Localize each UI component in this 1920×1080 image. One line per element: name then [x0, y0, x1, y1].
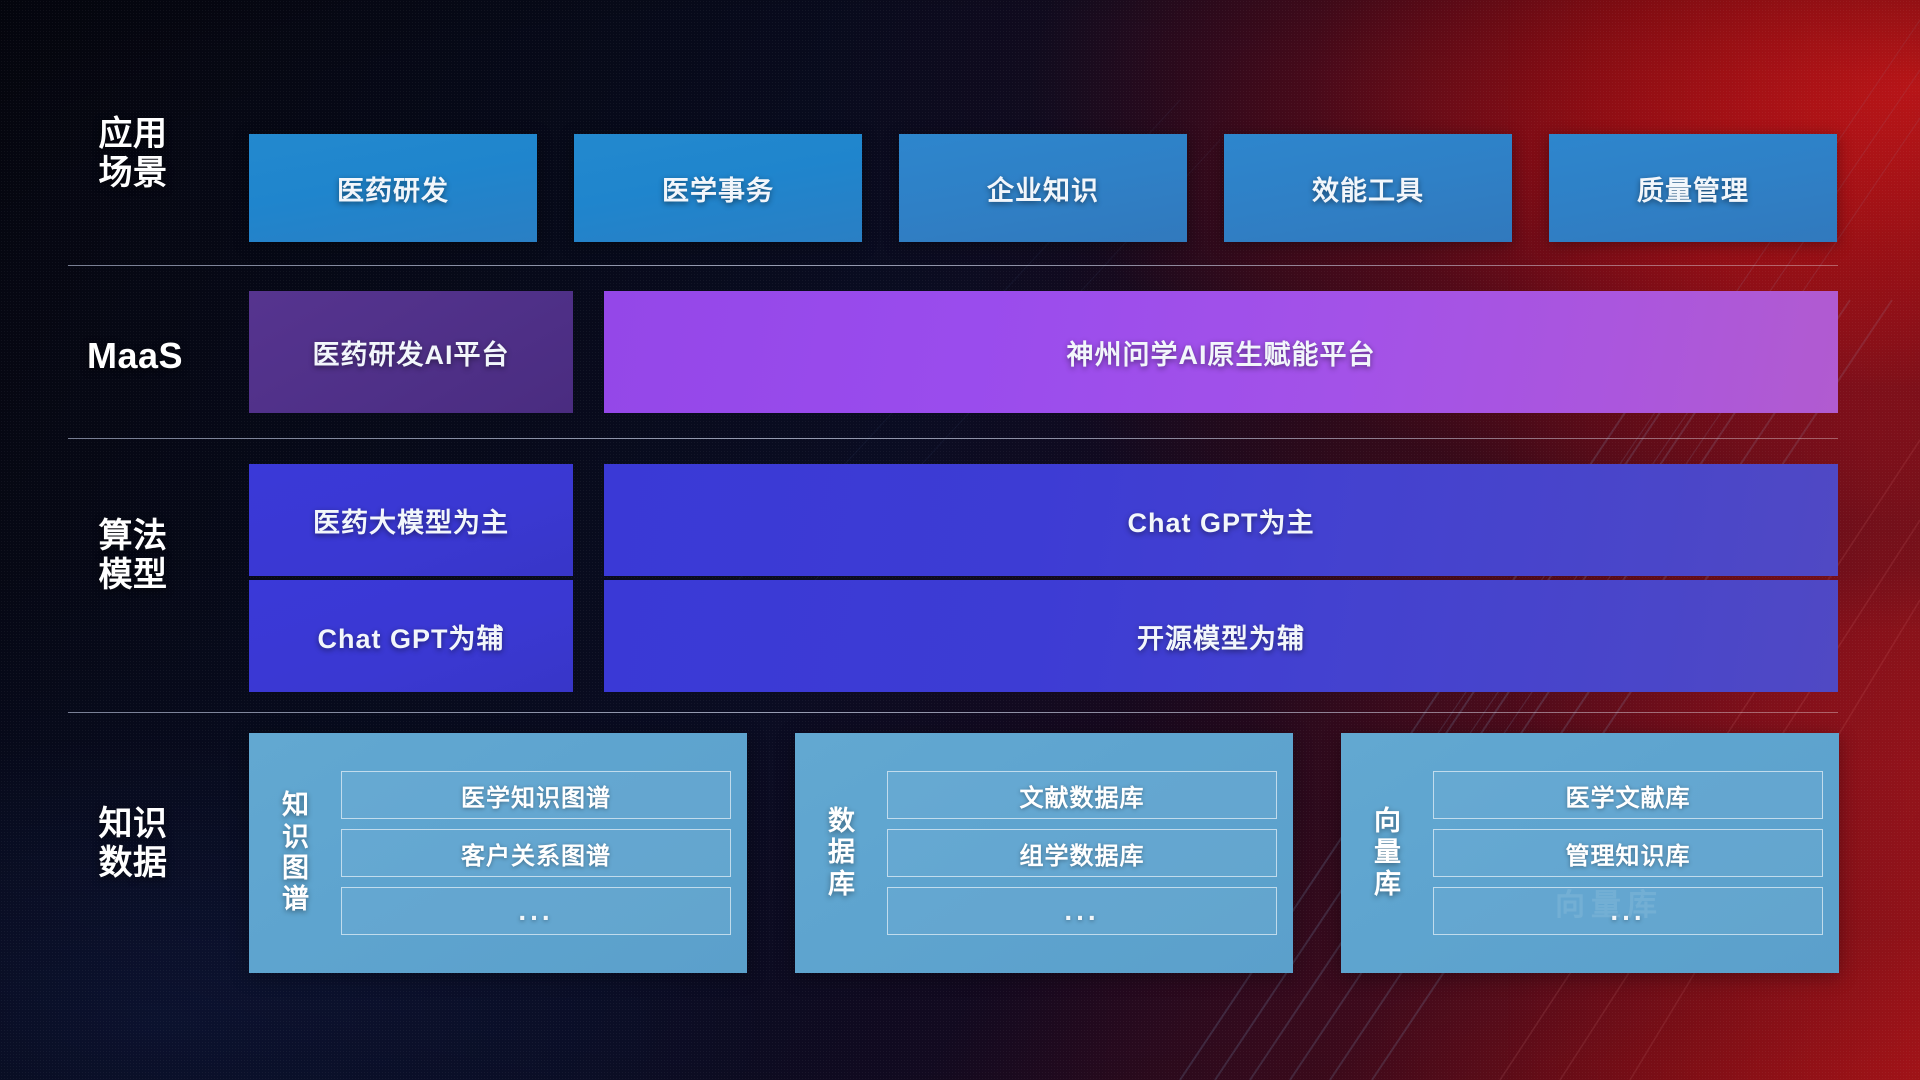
scene-box-4[interactable]: 效能工具: [1224, 134, 1512, 242]
knowledge-panel-2-vertical-label: 数 据 库: [811, 747, 873, 959]
knowledge-item-more-1[interactable]: ...: [341, 887, 731, 935]
knowledge-item-medical-literature-store[interactable]: 医学文献库: [1433, 771, 1823, 819]
knowledge-item-medical-knowledge-graph[interactable]: 医学知识图谱: [341, 771, 731, 819]
knowledge-panel-2-items: 文献数据库 组学数据库 ...: [873, 747, 1277, 959]
algo-box-row2-right[interactable]: 开源模型为辅: [604, 580, 1838, 692]
knowledge-panel-vector-store[interactable]: 向 量 库 医学文献库 管理知识库 ...: [1341, 733, 1839, 973]
tier-label-application-scenarios: 应用 场景: [68, 115, 198, 193]
knowledge-panel-3-vertical-label: 向 量 库: [1357, 747, 1419, 959]
tier-label-algorithm-model: 算法 模型: [68, 517, 198, 595]
knowledge-item-more-3[interactable]: ...: [1433, 887, 1823, 935]
algo-box-row2-left[interactable]: Chat GPT为辅: [249, 580, 573, 692]
scene-box-1[interactable]: 医药研发: [249, 134, 537, 242]
divider-after-algorithm-model: [68, 712, 1838, 713]
maas-box-shenzhou-wenxue-platform[interactable]: 神州问学AI原生赋能平台: [604, 291, 1838, 413]
knowledge-item-customer-relation-graph[interactable]: 客户关系图谱: [341, 829, 731, 877]
knowledge-panel-database[interactable]: 数 据 库 文献数据库 组学数据库 ...: [795, 733, 1293, 973]
scene-box-5[interactable]: 质量管理: [1549, 134, 1837, 242]
knowledge-panel-3-items: 医学文献库 管理知识库 ...: [1419, 747, 1823, 959]
algo-box-row1-right[interactable]: Chat GPT为主: [604, 464, 1838, 576]
knowledge-item-more-2[interactable]: ...: [887, 887, 1277, 935]
divider-after-application-scenarios: [68, 265, 1838, 266]
diagram-stage: 应用 场景 医药研发 医学事务 企业知识 效能工具 质量管理 MaaS 医药研发…: [0, 0, 1920, 1080]
knowledge-panel-1-items: 医学知识图谱 客户关系图谱 ...: [327, 747, 731, 959]
algo-box-row1-left[interactable]: 医药大模型为主: [249, 464, 573, 576]
knowledge-panel-knowledge-graph[interactable]: 知 识 图 谱 医学知识图谱 客户关系图谱 ...: [249, 733, 747, 973]
tier-label-maas: MaaS: [60, 335, 210, 376]
scene-box-2[interactable]: 医学事务: [574, 134, 862, 242]
maas-box-pharma-ai-platform[interactable]: 医药研发AI平台: [249, 291, 573, 413]
knowledge-item-literature-database[interactable]: 文献数据库: [887, 771, 1277, 819]
knowledge-item-management-knowledge-store[interactable]: 管理知识库: [1433, 829, 1823, 877]
knowledge-item-omics-database[interactable]: 组学数据库: [887, 829, 1277, 877]
scene-box-3[interactable]: 企业知识: [899, 134, 1187, 242]
divider-after-maas: [68, 438, 1838, 439]
tier-label-knowledge-data: 知识 数据: [68, 805, 198, 883]
knowledge-panel-1-vertical-label: 知 识 图 谱: [265, 747, 327, 959]
